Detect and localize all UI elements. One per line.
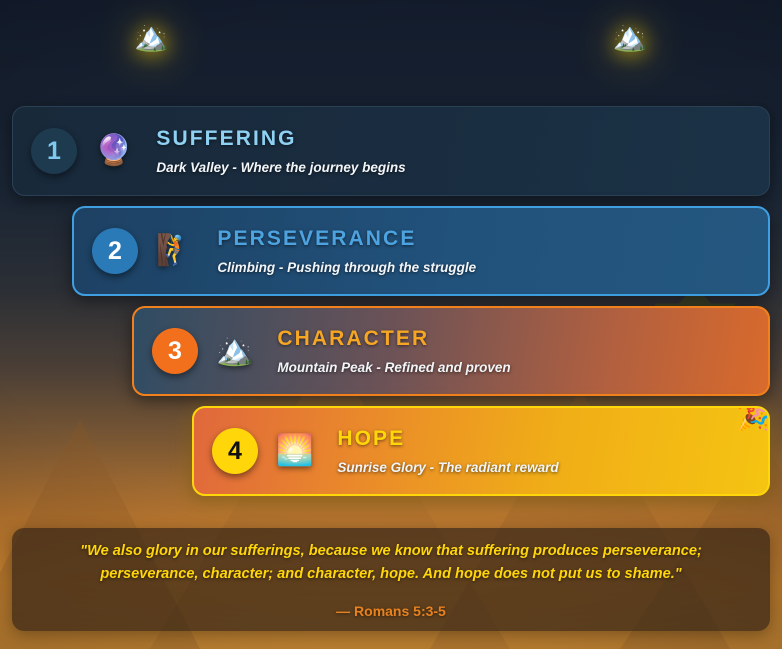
stage-description: Sunrise Glory - The radiant reward <box>337 460 558 475</box>
stage-description: Mountain Peak - Refined and proven <box>277 360 510 375</box>
stage-number-badge: 1 <box>31 128 77 174</box>
stage-title: CHARACTER <box>277 327 510 350</box>
stage-text: CHARACTER Mountain Peak - Refined and pr… <box>277 327 510 374</box>
journey-upward-infographic: 🏔️ THE JOURNEY UPWARD 🏔️ Romans 5:3-5 Pr… <box>0 0 782 649</box>
stage-title: PERSEVERANCE <box>217 227 476 250</box>
stage-number-badge: 3 <box>152 328 198 374</box>
climbing-person-icon: 🧗 <box>156 236 193 266</box>
scripture-quote-box: "We also glory in our sufferings, becaus… <box>12 528 770 631</box>
quote-attribution: — Romans 5:3-5 <box>336 603 446 619</box>
stage-number-badge: 4 <box>212 428 258 474</box>
quote-text: "We also glory in our sufferings, becaus… <box>40 540 742 585</box>
mountain-icon: 🏔️ <box>134 23 169 51</box>
stage-text: PERSEVERANCE Climbing - Pushing through … <box>217 227 476 274</box>
stage-card-suffering[interactable]: 1 🔮 SUFFERING Dark Valley - Where the jo… <box>12 106 770 196</box>
mountain-icon: 🏔️ <box>216 336 253 366</box>
mountain-icon: 🏔️ <box>613 23 648 51</box>
stage-card-character[interactable]: 3 🏔️ CHARACTER Mountain Peak - Refined a… <box>132 306 770 396</box>
stage-card-perseverance[interactable]: 2 🧗 PERSEVERANCE Climbing - Pushing thro… <box>72 206 770 296</box>
stage-description: Climbing - Pushing through the struggle <box>217 260 476 275</box>
stage-card-hope[interactable]: 4 🌅 HOPE Sunrise Glory - The radiant rew… <box>192 406 770 496</box>
party-popper-icon: 🎉 <box>736 406 770 431</box>
stage-text: HOPE Sunrise Glory - The radiant reward <box>337 427 558 474</box>
stage-title: SUFFERING <box>156 127 405 150</box>
stage-title: HOPE <box>337 427 558 450</box>
crystal-ball-icon: 🔮 <box>95 136 132 166</box>
stage-number-badge: 2 <box>92 228 138 274</box>
stage-description: Dark Valley - Where the journey begins <box>156 160 405 175</box>
stage-text: SUFFERING Dark Valley - Where the journe… <box>156 127 405 174</box>
sunrise-over-mountains-icon: 🌅 <box>276 436 313 466</box>
